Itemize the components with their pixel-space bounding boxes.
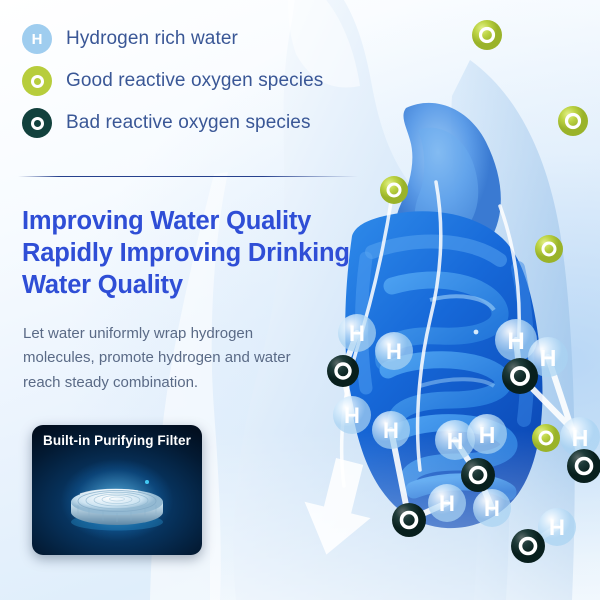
svg-text:H: H bbox=[386, 339, 402, 364]
svg-text:H: H bbox=[572, 425, 589, 451]
product-card: Built-in Purifying Filter bbox=[32, 425, 202, 555]
svg-text:H: H bbox=[540, 345, 557, 371]
svg-text:H: H bbox=[383, 418, 399, 443]
h-molecule-symbol: H bbox=[32, 32, 43, 47]
good-oxygen-icon bbox=[22, 66, 52, 96]
svg-text:H: H bbox=[549, 515, 565, 540]
bad-oxygen-icon bbox=[22, 108, 52, 138]
svg-text:H: H bbox=[447, 428, 464, 454]
svg-text:H: H bbox=[484, 496, 500, 521]
infographic-canvas: H H H H H H H H H H H H H Hy bbox=[0, 0, 600, 600]
legend: H Hydrogen rich water Good reactive oxyg… bbox=[22, 18, 372, 144]
svg-text:H: H bbox=[344, 403, 360, 428]
legend-label-bad-oxygen: Bad reactive oxygen species bbox=[66, 112, 311, 134]
hydrogen-bubbles: H H H H H H H H H H H H bbox=[333, 314, 600, 546]
svg-text:H: H bbox=[507, 328, 524, 355]
legend-label-good-oxygen: Good reactive oxygen species bbox=[66, 70, 323, 92]
svg-text:H: H bbox=[439, 491, 455, 516]
section-divider bbox=[18, 176, 358, 177]
h-molecule-icon: H bbox=[22, 24, 52, 54]
svg-text:H: H bbox=[349, 321, 365, 346]
legend-item-bad-oxygen: Bad reactive oxygen species bbox=[22, 102, 372, 144]
body-text: Let water uniformly wrap hydrogen molecu… bbox=[23, 322, 323, 395]
legend-label-hydrogen: Hydrogen rich water bbox=[66, 28, 238, 50]
svg-text:H: H bbox=[479, 422, 496, 448]
purifying-filter-disc-image bbox=[63, 474, 171, 532]
headline: Improving Water Quality Rapidly Improvin… bbox=[22, 205, 362, 301]
legend-item-hydrogen: H Hydrogen rich water bbox=[22, 18, 372, 60]
legend-item-good-oxygen: Good reactive oxygen species bbox=[22, 60, 372, 102]
product-card-title: Built-in Purifying Filter bbox=[32, 433, 202, 448]
